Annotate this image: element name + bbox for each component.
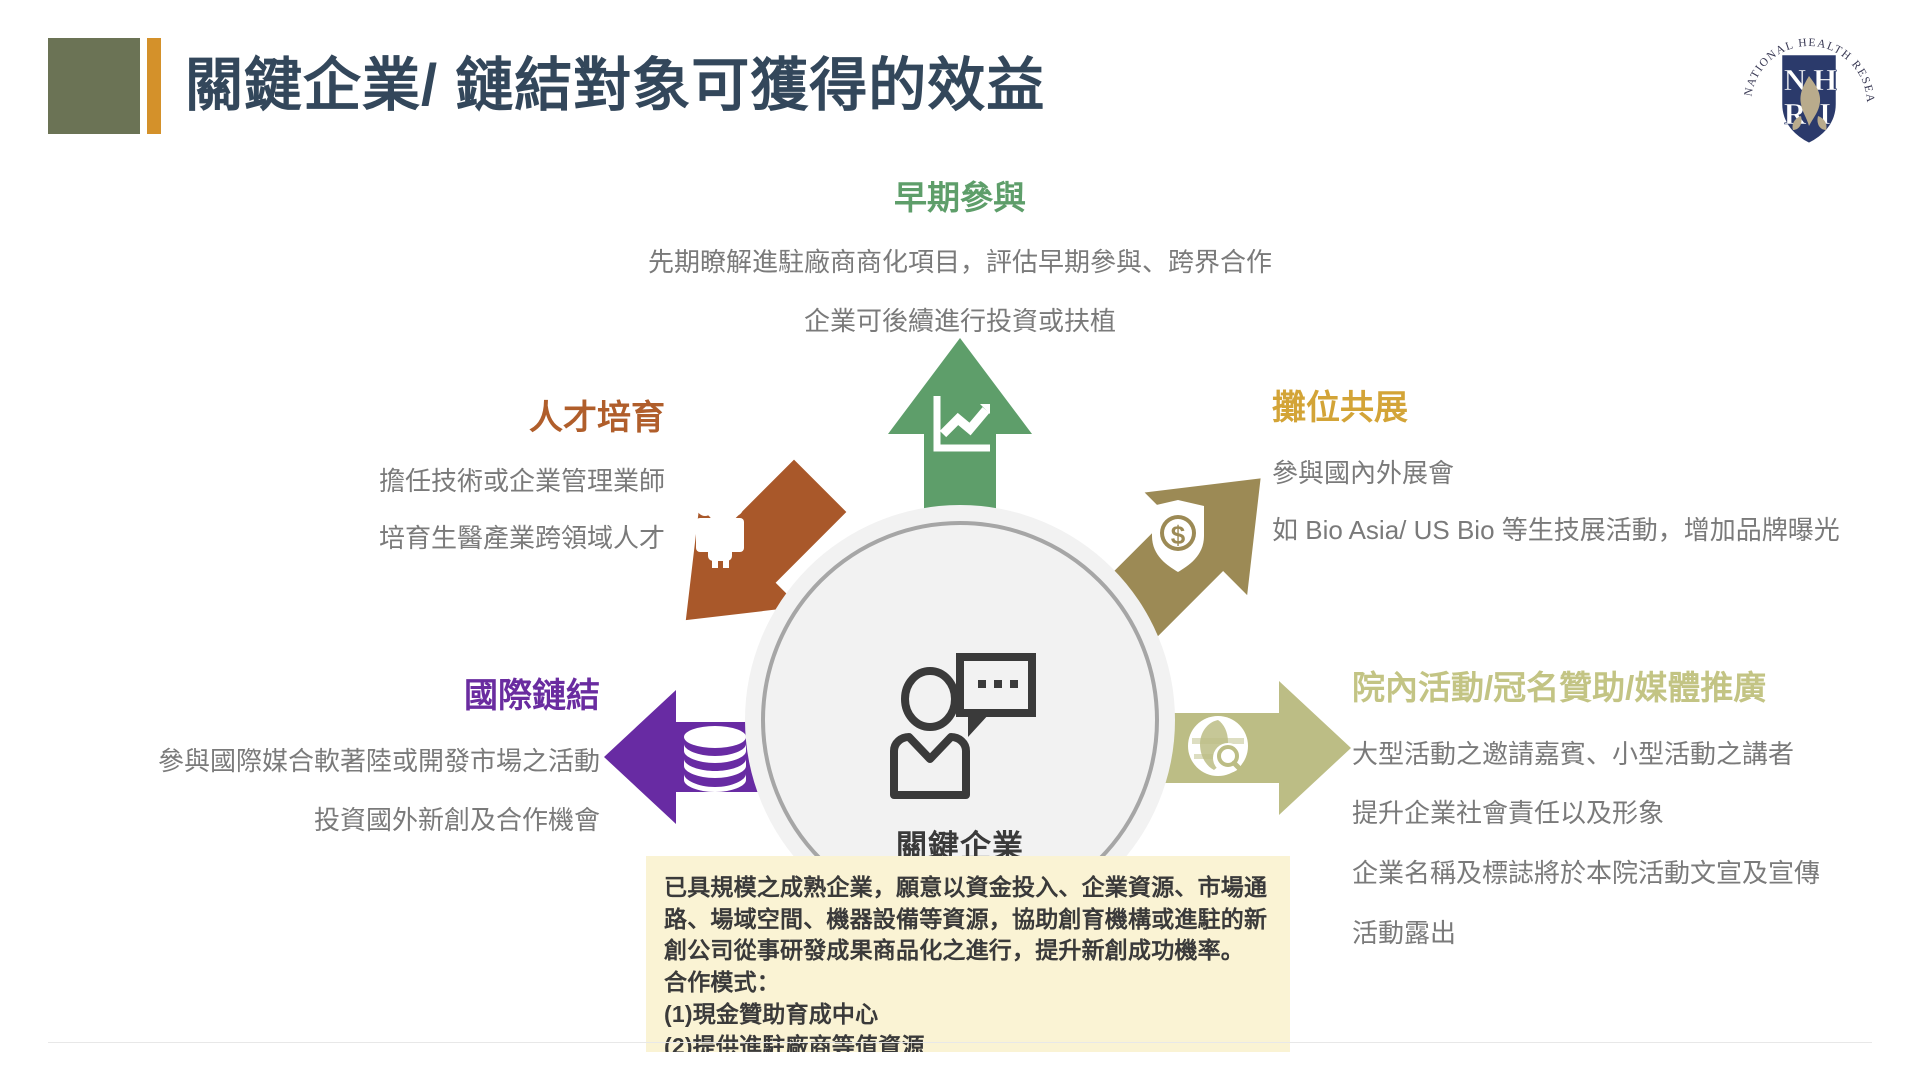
nhri-logo: NATIONAL HEALTH RESEARCH INSTITUTES N H … [1733, 18, 1885, 170]
branch-international-linkage: 國際鏈結 參與國際媒合軟著陸或開發市場之活動 投資國外新創及合作機會 [80, 676, 600, 840]
title-accent-bar [147, 38, 161, 134]
branch-line: 活動露出 [1352, 915, 1920, 953]
branch-early-participation: 早期參與 先期瞭解進駐廠商商化項目，評估早期參與、跨界合作 企業可後續進行投資或… [0, 178, 1920, 341]
arrow-events-sponsorship-media [1142, 672, 1357, 824]
callout-line: 路、場域空間、機器設備等資源，協助創育機構或進駐的新 [664, 904, 1272, 936]
branch-line: 企業名稱及標誌將於本院活動文宣及宣傳 [1352, 855, 1920, 893]
branch-line: 先期瞭解進駐廠商商化項目，評估早期參與、跨界合作 [0, 244, 1920, 282]
branch-line: 如 Bio Asia/ US Bio 等生技展活動，增加品牌曝光 [1272, 512, 1912, 550]
svg-text:$: $ [1171, 520, 1186, 550]
person-speech-bubble-icon [884, 653, 1036, 799]
slide-canvas: 關鍵企業/ 鏈結對象可獲得的效益 NATIONAL HEALTH RESEARC… [0, 0, 1920, 1080]
branch-heading-events-sponsorship-media: 院內活動/冠名贊助/媒體推廣 [1352, 668, 1920, 708]
callout-box: 已具規模之成熟企業，願意以資金投入、企業資源、市場通 路、場域空間、機器設備等資… [646, 856, 1290, 1052]
branch-line: 提升企業社會責任以及形象 [1352, 795, 1920, 833]
branch-heading-international-linkage: 國際鏈結 [80, 676, 600, 717]
page-title: 關鍵企業/ 鏈結對象可獲得的效益 [48, 38, 1045, 134]
globe-search-icon [1188, 716, 1248, 776]
branch-line: 擔任技術或企業管理業師 [120, 463, 665, 501]
callout-line: 創公司從事研發成果商品化之進行，提升新創成功機率。 [664, 935, 1272, 967]
branch-heading-talent-cultivation: 人才培育 [120, 398, 665, 439]
nhri-logo-icon: NATIONAL HEALTH RESEARCH INSTITUTES N H … [1733, 18, 1885, 170]
title-accent-square [48, 38, 140, 134]
branch-joint-booth: 攤位共展 參與國內外展會 如 Bio Asia/ US Bio 等生技展活動，增… [1272, 388, 1912, 550]
branch-line: 參與國內外展會 [1272, 455, 1912, 493]
title-text: 關鍵企業/ 鏈結對象可獲得的效益 [185, 38, 1045, 134]
callout-line: (1)現金贊助育成中心 [664, 999, 1272, 1031]
branch-line: 參與國際媒合軟著陸或開發市場之活動 [80, 743, 600, 781]
branch-talent-cultivation: 人才培育 擔任技術或企業管理業師 培育生醫產業跨領域人才 [120, 398, 665, 558]
callout-line: 已具規模之成熟企業，願意以資金投入、企業資源、市場通 [664, 872, 1272, 904]
branch-line: 培育生醫產業跨領域人才 [120, 520, 665, 558]
slide-bottom-divider [48, 1042, 1872, 1043]
branch-line: 企業可後續進行投資或扶植 [0, 303, 1920, 341]
branch-events-sponsorship-media: 院內活動/冠名贊助/媒體推廣 大型活動之邀請嘉賓、小型活動之講者 提升企業社會責… [1352, 668, 1920, 952]
callout-line: 合作模式： [664, 967, 1272, 999]
branch-line: 投資國外新創及合作機會 [80, 802, 600, 840]
branch-heading-joint-booth: 攤位共展 [1272, 388, 1912, 429]
branch-heading-early-participation: 早期參與 [0, 178, 1920, 218]
branch-line: 大型活動之邀請嘉賓、小型活動之講者 [1352, 736, 1920, 774]
